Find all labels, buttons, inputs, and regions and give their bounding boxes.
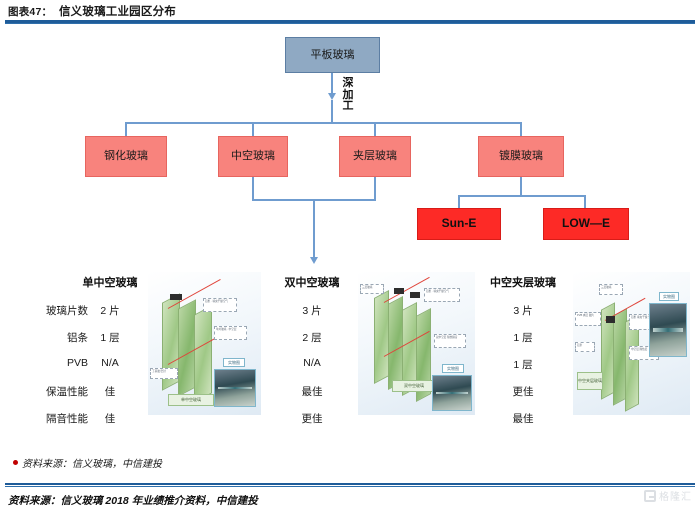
connector-bus (125, 122, 522, 124)
footer-rule (5, 483, 695, 485)
connector-sune-drop (458, 195, 460, 208)
table-cell: N/A (75, 357, 145, 369)
table-column-header-double: 双中空玻璃 (273, 274, 351, 290)
glass-pane (388, 296, 403, 390)
flow-node-sun-e[interactable]: Sun-E (417, 208, 501, 240)
glass-pane (194, 305, 212, 403)
photo-glint (218, 387, 252, 390)
diagram-image-single-insulated: 铝框 · 填充干燥空气 单片玻璃 · 中空层 丁基胶 密封 单中空玻璃 实物图 (148, 272, 261, 415)
flow-node-label: 中空玻璃 (231, 150, 275, 162)
callout-tag: 铝条 (575, 342, 595, 352)
photo-thumbnail (649, 303, 687, 357)
flow-node-label: LOW—E (562, 217, 610, 230)
figure-label: 图表47： (8, 6, 52, 18)
table-cell: 1 层 (478, 330, 568, 345)
glass-pane (374, 290, 389, 384)
diagram-image-double-insulated: 三层玻璃 铝框 · 填充干燥空气 双中空层 隔热隔音 双中空玻璃 实物图 (358, 272, 475, 415)
diagram-caption: 中空夹层玻璃 (577, 372, 603, 390)
callout-tag: 铝框 · 填充干燥空气 (203, 298, 237, 312)
table-cell: 最佳 (273, 384, 351, 399)
connector-drop-2 (252, 122, 254, 136)
spacer-block (410, 292, 420, 298)
figure-page: 图表47： 信义玻璃工业园区分布 平板玻璃 深加工 钢化玻璃 中空玻璃 夹层玻璃… (0, 0, 700, 519)
table-cell: 3 片 (478, 303, 568, 318)
watermark: 格隆汇 (644, 488, 692, 503)
process-label-text: 深加工 (343, 77, 354, 112)
table-cell: 1 层 (75, 330, 145, 345)
spacer-block (170, 294, 182, 300)
table-cell: 2 片 (75, 303, 145, 318)
connector-insulated-stem (252, 177, 254, 200)
spacer-block (606, 316, 615, 323)
connector-drop-3 (374, 122, 376, 136)
diagram-caption: 单中空玻璃 (168, 394, 214, 406)
callout-tag: 三层玻璃 (360, 284, 384, 294)
flow-node-top-label: 平板玻璃 (311, 49, 355, 61)
connector-top-arrowhead (328, 93, 336, 100)
photo-thumbnail (214, 369, 256, 407)
connector-merge-stem (313, 199, 315, 259)
flow-node-label: Sun-E (442, 217, 477, 230)
callout-tag: 单片玻璃 · 中空层 (214, 326, 247, 340)
diagram-image-laminated-insulated: 三层玻璃 PVB 夹层 胶片 铝条 铝框 填充干燥 空气 中空层 隔热层 中空夹… (573, 272, 690, 415)
photo-glint (436, 392, 468, 394)
connector-merge-arrowhead (310, 257, 318, 264)
table-cell: 1 层 (478, 357, 568, 372)
flow-node-insulated-glass[interactable]: 中空玻璃 (218, 136, 288, 177)
header-rule-inner (5, 23, 695, 24)
diagram-caption: 双中空玻璃 (392, 380, 436, 392)
footer-rule-inner (5, 486, 695, 487)
photo-label: 实物图 (223, 358, 245, 367)
connector-top-stem-lower (331, 100, 333, 123)
spacer-block (394, 288, 404, 294)
flow-node-low-e[interactable]: LOW—E (543, 208, 629, 240)
table-cell: N/A (273, 357, 351, 369)
table-cell: 佳 (75, 384, 145, 399)
callout-tag: 丁基胶 密封 (150, 368, 178, 379)
process-label: 深加工 (342, 78, 354, 113)
source-bottom: 资料来源：信义玻璃 2018 年业绩推介资料，中信建投 (8, 493, 258, 508)
callout-tag: 双中空层 隔热隔音 (434, 334, 466, 348)
flow-node-top[interactable]: 平板玻璃 (285, 37, 380, 73)
connector-drop-4 (520, 122, 522, 136)
table-cell: 更佳 (478, 384, 568, 399)
callout-tag: 铝框 · 填充干燥空气 (424, 288, 460, 302)
connector-laminated-stem (374, 177, 376, 200)
watermark-logo-icon (644, 490, 656, 502)
flow-node-label: 夹层玻璃 (353, 150, 397, 162)
connector-drop-1 (125, 122, 127, 136)
table-cell: 最佳 (478, 411, 568, 426)
connector-coated-bus (458, 195, 586, 197)
table-cell: 3 片 (273, 303, 351, 318)
callout-tag: 三层玻璃 (599, 284, 623, 295)
connector-top-stem (331, 73, 333, 95)
connector-lowe-drop (584, 195, 586, 208)
figure-title-text: 信义玻璃工业园区分布 (59, 6, 176, 18)
flow-node-coated-glass[interactable]: 镀膜玻璃 (478, 136, 564, 177)
page-title: 图表47： 信义玻璃工业园区分布 (8, 3, 176, 19)
photo-glint (653, 328, 683, 332)
table-cell: 2 层 (273, 330, 351, 345)
table-column-header-laminated: 中空夹层玻璃 (478, 274, 568, 290)
watermark-text: 格隆汇 (659, 488, 692, 503)
flow-node-tempered-glass[interactable]: 钢化玻璃 (85, 136, 167, 177)
source-bullet-icon (13, 460, 18, 465)
photo-label: 实物图 (442, 364, 464, 373)
connector-coated-stem (520, 177, 522, 195)
table-column-header-single: 单中空玻璃 (75, 274, 145, 290)
table-cell: 佳 (75, 411, 145, 426)
source-inline: 资料来源：信义玻璃，中信建投 (22, 455, 162, 470)
table-cell: 更佳 (273, 411, 351, 426)
flow-node-laminated-glass[interactable]: 夹层玻璃 (339, 136, 411, 177)
callout-tag: PVB 夹层 胶片 (575, 312, 601, 326)
photo-thumbnail (432, 375, 472, 411)
flow-node-label: 钢化玻璃 (104, 150, 148, 162)
flow-node-label: 镀膜玻璃 (499, 150, 543, 162)
photo-label: 实物图 (659, 292, 679, 301)
